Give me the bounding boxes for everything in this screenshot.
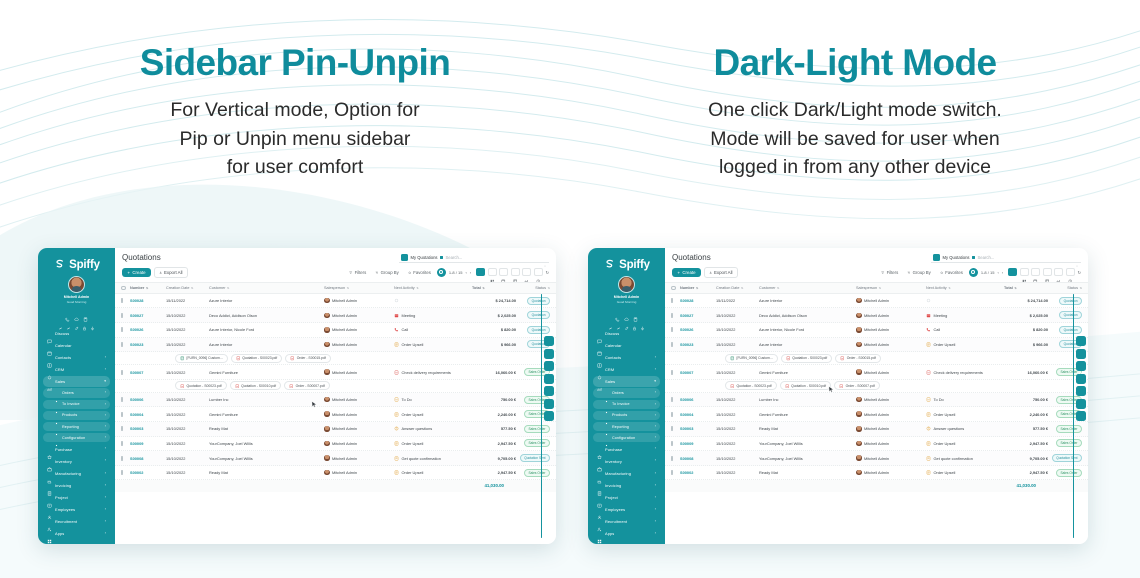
column-header-status[interactable]: Status ⇅ [1048, 286, 1082, 290]
row-checkbox[interactable] [121, 426, 130, 431]
sort-icon: ⇅ [1079, 286, 1082, 290]
table-row[interactable]: S00002 15/10/2022 Ready Mat Mitchell Adm… [115, 466, 556, 481]
cell-status: Quotation [1048, 297, 1082, 305]
cell-creation-date: 15/10/2022 [716, 327, 759, 332]
group-by-button[interactable]: Group By [904, 268, 934, 277]
column-header-salesperson[interactable]: Salesperson ⇅ [856, 286, 926, 290]
filters-button[interactable]: Filters [878, 268, 901, 277]
rail-button-share[interactable] [544, 411, 554, 421]
rail-button-print[interactable] [544, 374, 554, 384]
cell-salesperson: Mitchell Admin [324, 470, 394, 476]
view-button-pivot-view[interactable] [1043, 268, 1052, 276]
sidebar-item-employees[interactable]: Employees › [43, 504, 110, 515]
table-row[interactable]: S00008 15/10/2022 YourCompany, Joel Will… [115, 451, 556, 466]
lock-icon[interactable] [632, 318, 637, 323]
panel-subtitle: For Vertical mode, Option for Pip or Unp… [55, 96, 535, 181]
rail-button-chart[interactable] [544, 386, 554, 396]
column-header-creation-date[interactable]: Creation Date ⇅ [716, 286, 759, 290]
spiffy-logo-icon [603, 258, 616, 271]
attachment-chip[interactable]: Quotation - S00010.pdf [780, 381, 832, 390]
quote-icon [926, 456, 931, 461]
row-checkbox[interactable] [671, 327, 680, 332]
sidebar-item-manufacturing[interactable]: Manufacturing › [593, 468, 660, 479]
sub-dot-icon [54, 435, 59, 440]
row-checkbox[interactable] [671, 441, 680, 446]
row-checkbox[interactable] [671, 470, 680, 475]
cell-salesperson-label: Mitchell Admin [332, 441, 357, 446]
sidebar-item-sales[interactable]: Sales ▾ [593, 376, 660, 387]
table-row[interactable]: S00004 15/10/2022 Gemini Furniture Mitch… [665, 407, 1088, 422]
contacts-icon [47, 355, 52, 360]
sidebar-item-label: Configuration [62, 436, 85, 440]
column-header-number[interactable]: Number ⇅ [130, 286, 166, 290]
cell-salesperson: Mitchell Admin [856, 327, 926, 333]
attachment-chip[interactable]: Order - S00015.pdf [835, 354, 881, 363]
row-checkbox[interactable] [121, 412, 130, 417]
close-icon[interactable] [440, 256, 443, 259]
view-button-pivot-view[interactable] [511, 268, 520, 276]
column-header-salesperson[interactable]: Salesperson ⇅ [324, 286, 394, 290]
attachment-chip[interactable]: Order - S00007.pdf [284, 381, 330, 390]
salesperson-avatar [856, 313, 862, 319]
sidebar-item-recruitment[interactable]: Recruitment › [593, 517, 660, 528]
row-checkbox[interactable] [671, 426, 680, 431]
chevron-down-icon[interactable] [543, 255, 547, 259]
invoicing-icon [47, 483, 52, 488]
group-by-button[interactable]: Group By [372, 268, 402, 277]
attachment-name: Quotation - S00023.pdf [792, 356, 827, 360]
link-icon[interactable] [608, 318, 613, 323]
cell-customer: Gemini Furniture [209, 412, 324, 417]
sidebar-item-label: Calendar [55, 343, 72, 348]
row-checkbox[interactable] [121, 298, 130, 303]
rail-button-settings[interactable] [544, 336, 554, 346]
sidebar-item-discuss[interactable]: Discuss [43, 328, 110, 339]
attachment-chip[interactable]: Quotation - S00023.pdf [175, 381, 227, 390]
phone-icon[interactable] [615, 309, 620, 314]
table-row[interactable]: S00028 15/11/2022 Azure Interior Mitchel… [115, 294, 556, 309]
row-checkbox[interactable] [121, 313, 130, 318]
column-header-customer[interactable]: Customer ⇅ [759, 286, 856, 290]
cloud-icon[interactable] [74, 309, 79, 314]
none-icon [926, 298, 931, 303]
salesperson-avatar [856, 441, 862, 447]
cell-next-activity[interactable]: Get quote confirmation [394, 456, 472, 461]
pin-icon[interactable] [90, 318, 95, 323]
column-header-label: Salesperson [856, 286, 877, 290]
select-all-checkbox[interactable] [121, 286, 130, 291]
table-row[interactable]: S00006 15/10/2022 Lumber Inc Mitchell Ad… [665, 393, 1088, 408]
cell-salesperson-label: Mitchell Admin [864, 470, 889, 475]
view-button-graph-view[interactable] [522, 268, 531, 276]
chevron-right-icon: › [655, 447, 656, 451]
export-all-button[interactable]: Export All [154, 267, 188, 278]
sidebar-item-inventory[interactable]: Inventory › [43, 456, 110, 467]
table-row[interactable]: S00002 15/10/2022 Ready Mat Mitchell Adm… [665, 466, 1088, 481]
row-checkbox[interactable] [671, 397, 680, 402]
view-button-kanban-view[interactable] [1020, 268, 1029, 276]
salesperson-avatar [324, 470, 330, 476]
view-button-kanban-view[interactable] [488, 268, 497, 276]
table-row[interactable]: S00027 15/10/2022 Deco Addict, Addison O… [665, 308, 1088, 323]
salesperson-avatar [856, 397, 862, 403]
cell-next-activity[interactable]: Check delivery requirements [926, 370, 1004, 375]
cell-salesperson-label: Mitchell Admin [864, 298, 889, 303]
vertical-scrollbar[interactable] [541, 294, 542, 538]
cell-total: 2,240.00 € [472, 412, 516, 417]
meeting-icon [394, 313, 399, 318]
cell-customer: Lumber Inc [759, 397, 856, 402]
calendar-icon [47, 343, 52, 348]
cell-next-activity-label: Order Upsell [934, 470, 956, 475]
attachment-name: Quotation - S00023.pdf [242, 356, 277, 360]
table-row[interactable]: S00026 15/10/2022 Azure Interior, Nicole… [665, 323, 1088, 338]
sidebar-item-label: Employees [55, 507, 75, 512]
cell-next-activity[interactable]: Order Upsell [926, 441, 1004, 446]
column-header-next-activity[interactable]: Next Activity ⇅ [394, 286, 472, 290]
chevron-right-icon: › [105, 508, 106, 512]
column-header-label: Customer [209, 286, 225, 290]
cell-customer: Azure Interior, Nicole Ford [209, 327, 324, 332]
table-row[interactable]: S00028 15/11/2022 Azure Interior Mitchel… [665, 294, 1088, 309]
leaf-icon[interactable] [74, 318, 79, 323]
cell-salesperson-label: Mitchell Admin [864, 412, 889, 417]
sidebar-item-reporting[interactable]: Reporting › [43, 422, 110, 432]
refresh-icon[interactable]: ↻ [546, 270, 549, 275]
row-checkbox[interactable] [121, 370, 130, 375]
cell-next-activity[interactable] [926, 298, 1004, 303]
sidebar-item-manufacturing[interactable]: Manufacturing › [43, 468, 110, 479]
cell-next-activity[interactable] [394, 298, 472, 303]
sidebar-user[interactable]: Mitchell Admin Good Morning [43, 276, 110, 307]
row-checkbox[interactable] [121, 456, 130, 461]
sort-icon: ⇅ [741, 286, 744, 290]
sidebar-item-orders[interactable]: Orders › [593, 388, 660, 398]
sidebar-item-project[interactable]: Project › [593, 492, 660, 503]
pin-icon[interactable] [640, 318, 645, 323]
column-header-total[interactable]: Total ⇅ [1004, 286, 1048, 290]
sidebar-item-reporting[interactable]: Reporting › [593, 422, 660, 432]
rail-button-search[interactable] [1076, 349, 1086, 359]
row-checkbox[interactable] [121, 441, 130, 446]
status-badge: Quotation [527, 326, 550, 334]
cell-total: $ 966.00 [472, 342, 516, 347]
kanban-view-icon [490, 270, 495, 274]
attachment-chip[interactable]: Quotation - S00023.pdf [231, 354, 283, 363]
attachment-chip[interactable]: Quotation - S00023.pdf [725, 381, 777, 390]
cell-next-activity[interactable]: Order Upsell [394, 342, 472, 347]
sidebar-item-configuration[interactable]: Configuration › [43, 433, 110, 443]
sidebar: Spiffy Mitchell Admin Good Morning Discu… [588, 248, 665, 544]
table-row[interactable]: S00007 15/10/2022 Gemini Furniture Mitch… [665, 365, 1088, 380]
row-checkbox[interactable] [671, 298, 680, 303]
sidebar-item-invoicing[interactable]: Invoicing › [593, 480, 660, 491]
attachment-chip[interactable]: Quotation - S00023.pdf [781, 354, 833, 363]
groupby-icon [907, 270, 910, 273]
select-all-checkbox[interactable] [671, 286, 680, 291]
link-icon[interactable] [58, 318, 63, 323]
cell-salesperson: Mitchell Admin [856, 411, 926, 417]
rail-button-share[interactable] [1076, 411, 1086, 421]
cell-status: Quotation [1048, 326, 1082, 334]
link-alt-icon[interactable] [616, 318, 621, 323]
project-icon [597, 495, 602, 500]
sidebar-item-to-invoice[interactable]: To Invoice › [593, 400, 660, 410]
favorites-button[interactable]: Favorites [937, 268, 966, 277]
cell-next-activity[interactable]: Answer questions [926, 426, 1004, 431]
cell-total: $ 820.00 [1004, 327, 1048, 332]
view-button-list-view[interactable] [476, 268, 485, 276]
sidebar-item-label: To Invoice [612, 402, 630, 406]
sidebar-item-recruitment[interactable]: Recruitment › [43, 517, 110, 528]
sidebar-item-settings[interactable]: Settings › [593, 541, 660, 544]
cell-next-activity-label: Answer questions [934, 426, 965, 431]
sidebar-item-apps[interactable]: Apps › [593, 529, 660, 540]
sort-icon: ⇅ [879, 286, 882, 290]
cell-next-activity[interactable]: Order Upsell [926, 412, 1004, 417]
cell-next-activity[interactable]: Order Upsell [394, 412, 472, 417]
question-icon [394, 426, 399, 431]
row-checkbox[interactable] [671, 342, 680, 347]
view-button-activity-view[interactable] [1066, 268, 1075, 276]
sidebar-item-invoicing[interactable]: Invoicing › [43, 480, 110, 491]
cell-next-activity[interactable]: Check delivery requirements [394, 370, 472, 375]
order-icon [394, 441, 399, 446]
leaf-icon[interactable] [624, 318, 629, 323]
status-badge: Sales Order [524, 469, 550, 477]
brand-logo[interactable]: Spiffy [43, 254, 110, 276]
sidebar-item-purchase[interactable]: Purchase › [593, 444, 660, 455]
sidebar-item-discuss[interactable]: Discuss [593, 328, 660, 339]
page-title: Quotations [672, 253, 711, 262]
cell-next-activity-label: Order Upsell [402, 412, 424, 417]
cell-creation-date: 15/10/2022 [716, 370, 759, 375]
rail-button-search[interactable] [544, 349, 554, 359]
phone-icon[interactable] [65, 309, 70, 314]
search-filter-chip[interactable]: My Quotations [411, 255, 443, 260]
column-header-creation-date[interactable]: Creation Date ⇅ [166, 286, 209, 290]
cell-next-activity[interactable]: To Do [926, 397, 1004, 402]
column-header-total[interactable]: Total ⇅ [472, 286, 516, 290]
table-row[interactable]: S00027 15/10/2022 Deco Addict, Addison O… [115, 308, 556, 323]
cell-salesperson: Mitchell Admin [324, 426, 394, 432]
sidebar-item-purchase[interactable]: Purchase › [43, 444, 110, 455]
cell-next-activity-label: Answer questions [402, 426, 433, 431]
view-button-calendar-view[interactable] [499, 268, 508, 276]
cell-total: 2,240.00 € [1004, 412, 1048, 417]
cloud-icon[interactable] [624, 309, 629, 314]
search-bar[interactable]: My Quotations Search... [931, 253, 1081, 263]
table-row[interactable]: S00026 15/10/2022 Azure Interior, Nicole… [115, 323, 556, 338]
sidebar-item-configuration[interactable]: Configuration › [593, 433, 660, 443]
calculator-icon[interactable] [83, 309, 88, 314]
sidebar-item-sales[interactable]: Sales ▾ [43, 376, 110, 387]
attachment-chip[interactable]: Order - S00007.pdf [834, 381, 880, 390]
create-button[interactable]: Create [122, 268, 151, 277]
attachment-chip[interactable]: Quotation - S00010.pdf [230, 381, 282, 390]
rail-button-export[interactable] [1076, 399, 1086, 409]
cell-total: $ 966.00 [1004, 342, 1048, 347]
recruitment-icon [597, 519, 602, 524]
cell-creation-date: 15/10/2022 [166, 412, 209, 417]
sidebar-item-contacts[interactable]: Contacts › [43, 352, 110, 363]
cell-next-activity[interactable]: Order Upsell [926, 470, 1004, 475]
cell-next-activity[interactable]: Meeting [394, 313, 472, 318]
row-checkbox[interactable] [671, 370, 680, 375]
table-row[interactable]: S00008 15/10/2022 YourCompany, Joel Will… [665, 451, 1088, 466]
cell-number: S00008 [130, 456, 166, 461]
rail-button-grid[interactable] [1076, 361, 1086, 371]
sort-icon: ⇅ [1014, 286, 1017, 290]
row-checkbox[interactable] [121, 342, 130, 347]
cell-next-activity[interactable]: Order Upsell [394, 470, 472, 475]
view-button-list-view[interactable] [1008, 268, 1017, 276]
view-button-calendar-view[interactable] [1031, 268, 1040, 276]
sidebar-item-orders[interactable]: Orders › [43, 388, 110, 398]
download-icon [159, 270, 162, 273]
cell-next-activity[interactable]: To Do [394, 397, 472, 402]
column-header-next-activity[interactable]: Next Activity ⇅ [926, 286, 1004, 290]
brand-logo[interactable]: Spiffy [593, 254, 660, 276]
attachment-chip[interactable]: Order - S00015.pdf [285, 354, 331, 363]
search-input[interactable]: Search... [446, 255, 463, 260]
cell-creation-date: 15/11/2022 [716, 298, 759, 303]
pager-prev-button[interactable]: ‹ [997, 270, 998, 275]
status-badge: Quotation [1059, 297, 1082, 305]
chevron-down-icon[interactable] [1075, 255, 1079, 259]
table-row[interactable]: S00009 15/10/2022 YourCompany, Joel Will… [115, 437, 556, 452]
rail-button-grid[interactable] [544, 361, 554, 371]
column-header-status[interactable]: Status ⇅ [516, 286, 550, 290]
attachment-chip[interactable]: [FURN_0096] Custom... [725, 354, 778, 363]
cell-next-activity[interactable]: Order Upsell [394, 441, 472, 446]
user-avatar-button[interactable] [969, 268, 978, 277]
chevron-right-icon: › [105, 414, 106, 418]
calculator-icon[interactable] [633, 309, 638, 314]
attachment-name: Quotation - S00010.pdf [241, 384, 276, 388]
cell-salesperson-label: Mitchell Admin [332, 370, 357, 375]
group-by-label: Group By [381, 270, 399, 275]
column-header-number[interactable]: Number ⇅ [680, 286, 716, 290]
sidebar-item-products[interactable]: Products › [43, 411, 110, 421]
search-bar[interactable]: My Quotations Search... [399, 253, 549, 263]
cell-number: S00028 [130, 298, 166, 303]
table-row[interactable]: S00003 15/10/2022 Ready Mat Mitchell Adm… [115, 422, 556, 437]
sidebar-item-inventory[interactable]: Inventory › [593, 456, 660, 467]
pager-next-button[interactable]: › [1002, 270, 1003, 275]
cell-salesperson-label: Mitchell Admin [332, 397, 357, 402]
cell-next-activity[interactable]: Call [926, 327, 1004, 332]
sidebar-item-calendar[interactable]: Calendar [43, 340, 110, 351]
cell-salesperson-label: Mitchell Admin [864, 426, 889, 431]
attachment-chip[interactable]: [FURN_0096] Custom... [175, 354, 228, 363]
refresh-icon[interactable]: ↻ [1078, 270, 1081, 275]
pager-prev-button[interactable]: ‹ [465, 270, 466, 275]
row-checkbox[interactable] [121, 397, 130, 402]
sidebar-item-crm[interactable]: CRM › [593, 364, 660, 375]
search-input[interactable]: Search... [978, 255, 995, 260]
salesperson-avatar [324, 342, 330, 348]
sidebar-item-crm[interactable]: CRM › [43, 364, 110, 375]
pager-next-button[interactable]: › [470, 270, 471, 275]
rail-button-print[interactable] [1076, 374, 1086, 384]
cell-customer: Gemini Furniture [759, 412, 856, 417]
favorites-button[interactable]: Favorites [405, 268, 434, 277]
user-avatar-button[interactable] [437, 268, 446, 277]
view-button-activity-view[interactable] [534, 268, 543, 276]
create-button[interactable]: Create [672, 268, 701, 277]
cell-next-activity[interactable]: Order Upsell [926, 342, 1004, 347]
rail-button-settings[interactable] [1076, 336, 1086, 346]
column-header-customer[interactable]: Customer ⇅ [209, 286, 324, 290]
cell-next-activity[interactable]: Answer questions [394, 426, 472, 431]
cell-customer: Gemini Furniture [759, 370, 856, 375]
sidebar-item-apps[interactable]: Apps › [43, 529, 110, 540]
sidebar-item-employees[interactable]: Employees › [593, 504, 660, 515]
cell-next-activity[interactable]: Call [394, 327, 472, 332]
table-row[interactable]: S00006 15/10/2022 Lumber Inc Mitchell Ad… [115, 393, 556, 408]
view-button-graph-view[interactable] [1054, 268, 1063, 276]
sidebar-item-project[interactable]: Project › [43, 492, 110, 503]
sidebar-item-settings[interactable]: Settings › [43, 541, 110, 544]
table-row[interactable]: S00023 15/10/2022 Azure Interior Mitchel… [665, 338, 1088, 353]
sidebar-item-to-invoice[interactable]: To Invoice › [43, 400, 110, 410]
table-row[interactable]: S00009 15/10/2022 YourCompany, Joel Will… [665, 437, 1088, 452]
row-checkbox[interactable] [121, 470, 130, 475]
link-alt-icon[interactable] [66, 318, 71, 323]
cell-salesperson-label: Mitchell Admin [864, 370, 889, 375]
filters-button[interactable]: Filters [346, 268, 369, 277]
table-row[interactable]: S00023 15/10/2022 Azure Interior Mitchel… [115, 338, 556, 353]
rail-button-chart[interactable] [1076, 386, 1086, 396]
pdf-icon [236, 356, 241, 361]
rail-button-export[interactable] [544, 399, 554, 409]
row-checkbox[interactable] [671, 412, 680, 417]
sidebar-item-products[interactable]: Products › [593, 411, 660, 421]
manufacturing-icon [597, 471, 602, 476]
lock-icon[interactable] [82, 318, 87, 323]
cell-next-activity[interactable]: Get quote confirmation [926, 456, 1004, 461]
row-checkbox[interactable] [671, 313, 680, 318]
export-all-button[interactable]: Export All [704, 267, 738, 278]
chevron-right-icon: › [105, 403, 106, 407]
cell-total: $ 2,025.00 [472, 313, 516, 318]
cell-next-activity[interactable]: Meeting [926, 313, 1004, 318]
sidebar-item-calendar[interactable]: Calendar [593, 340, 660, 351]
table-row[interactable]: S00004 15/10/2022 Gemini Furniture Mitch… [115, 407, 556, 422]
sidebar-item-label: Apps [605, 531, 614, 536]
sub-dot-icon [54, 413, 59, 418]
quick-icons-row-2 [593, 316, 660, 328]
sidebar-item-contacts[interactable]: Contacts › [593, 352, 660, 363]
table-row[interactable]: S00003 15/10/2022 Ready Mat Mitchell Adm… [665, 422, 1088, 437]
vertical-scrollbar[interactable] [1073, 294, 1074, 538]
row-checkbox[interactable] [671, 456, 680, 461]
attachment-row: Quotation - S00023.pdf Quotation - S0001… [665, 380, 1088, 393]
search-filter-chip[interactable]: My Quotations [943, 255, 975, 260]
status-badge: Quotation [1059, 326, 1082, 334]
table-row[interactable]: S00007 15/10/2022 Gemini Furniture Mitch… [115, 365, 556, 380]
sidebar-item-label: Discuss [605, 331, 619, 336]
row-checkbox[interactable] [121, 327, 130, 332]
main-content: Quotations My Quotations Search... Creat… [665, 248, 1088, 544]
call-icon [394, 327, 399, 332]
close-icon[interactable] [972, 256, 975, 259]
recruitment-icon [47, 519, 52, 524]
cell-salesperson: Mitchell Admin [856, 342, 926, 348]
create-button-label: Create [132, 270, 145, 275]
sidebar-user[interactable]: Mitchell Admin Good Morning [593, 276, 660, 307]
